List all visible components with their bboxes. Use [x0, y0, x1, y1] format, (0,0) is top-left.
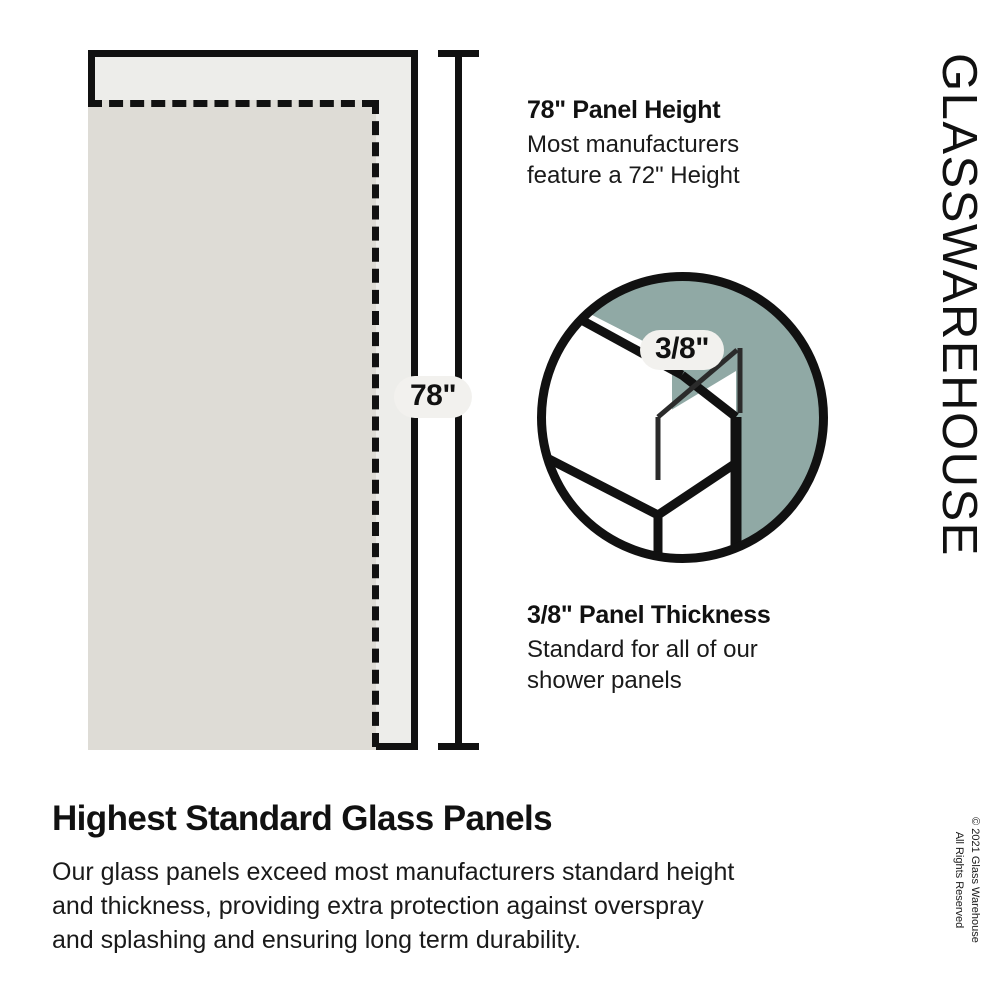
copyright-notice: © 2021 Glass Warehouse All Rights Reserv… — [938, 795, 984, 965]
callout-panel-height-body-line-1: Most manufacturers — [527, 131, 739, 158]
dimension-cap-top-icon — [438, 50, 479, 57]
panel-dashed-right-edge — [372, 100, 379, 747]
page-title: Highest Standard Glass Panels — [52, 800, 867, 839]
callout-panel-thickness: 3/8" Panel Thickness Standard for all of… — [527, 601, 847, 696]
brand-wordmark: GLASSWAREHOUSE — [926, 30, 990, 610]
callout-panel-height-body: Most manufacturers feature a 72" Height — [527, 129, 847, 191]
panel-dashed-top-edge — [88, 100, 376, 107]
panel-thickness-detail-illustration — [530, 265, 835, 570]
bottom-description-line-2: and thickness, providing extra protectio… — [52, 892, 704, 920]
copyright-line-2: All Rights Reserved — [953, 832, 965, 929]
callout-panel-thickness-title: 3/8" Panel Thickness — [527, 601, 847, 631]
callout-panel-height-body-line-2: feature a 72" Height — [527, 162, 740, 189]
callout-panel-height-title: 78" Panel Height — [527, 96, 847, 126]
height-dimension-label: 78" — [394, 376, 472, 418]
copyright-line-1: © 2021 Glass Warehouse — [969, 817, 981, 943]
copyright-text: © 2021 Glass Warehouse All Rights Reserv… — [950, 795, 982, 965]
callout-panel-thickness-body-line-2: shower panels — [527, 667, 682, 694]
callout-panel-thickness-body-line-1: Standard for all of our — [527, 636, 758, 663]
callout-panel-thickness-body: Standard for all of our shower panels — [527, 634, 847, 696]
bottom-description: Our glass panels exceed most manufacture… — [52, 855, 867, 957]
bottom-text-block: Highest Standard Glass Panels Our glass … — [52, 800, 867, 957]
bottom-description-line-1: Our glass panels exceed most manufacture… — [52, 858, 734, 886]
glass-panel-diagram — [88, 50, 418, 750]
panel-standard-height-region — [88, 100, 376, 750]
brand-wordmark-text: GLASSWAREHOUSE — [931, 53, 987, 573]
thickness-dimension-label: 3/8" — [640, 330, 724, 370]
bottom-description-line-3: and splashing and ensuring long term dur… — [52, 926, 581, 954]
dimension-cap-bottom-icon — [438, 743, 479, 750]
callout-panel-height: 78" Panel Height Most manufacturers feat… — [527, 96, 847, 191]
